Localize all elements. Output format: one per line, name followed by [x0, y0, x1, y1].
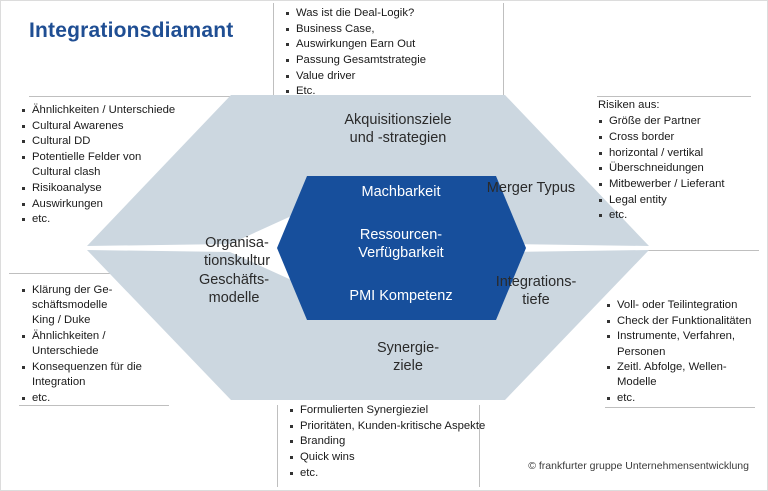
list-item: Auswirkungen Earn Out [285, 37, 499, 52]
list-item: Legal entity [598, 193, 766, 208]
divider-vertical-top-right [503, 3, 504, 96]
list-items: Ähnlichkeiten / Unterschiede Cultural Aw… [21, 103, 236, 228]
list-items: Klärung der Ge- schäftsmodelle King / Du… [21, 283, 173, 406]
list-lead: Risiken aus: [598, 98, 766, 113]
list-item: Was ist die Deal-Logik? [285, 6, 499, 21]
list-left-bottom: Klärung der Ge- schäftsmodelle King / Du… [21, 282, 173, 407]
list-left-top: Ähnlichkeiten / Unterschiede Cultural Aw… [21, 102, 236, 228]
list-item: Cross border [598, 130, 766, 145]
list-item: Cultural Awarenes [21, 119, 236, 134]
list-item: Formulierten Synergieziel [289, 403, 539, 418]
list-item: etc. [289, 466, 539, 481]
list-item: Ähnlichkeiten / Unterschiede [21, 103, 236, 118]
list-item: Prioritäten, Kunden-kritische Aspekte [289, 419, 539, 434]
list-item: Auswirkungen [21, 197, 236, 212]
list-item: Zeitl. Abfolge, Wellen- Modelle [606, 360, 766, 390]
list-item: Konsequenzen für die Integration [21, 360, 173, 390]
copyright-notice: © frankfurter gruppe Unternehmensentwick… [528, 460, 749, 472]
list-items: Formulierten Synergieziel Prioritäten, K… [289, 403, 539, 481]
divider-vertical-top-left [273, 3, 274, 96]
list-item: Business Case, [285, 22, 499, 37]
list-item: Risikoanalyse [21, 181, 236, 196]
list-item: etc. [598, 208, 766, 223]
list-top-center: Was ist die Deal-Logik? Business Case, A… [285, 5, 499, 100]
divider-right-bottom [605, 407, 755, 408]
list-items: Größe der Partner Cross border horizonta… [598, 114, 766, 223]
list-item: Größe der Partner [598, 114, 766, 129]
page-title: Integrationsdiamant [29, 19, 234, 43]
core-hexagon[interactable] [277, 176, 526, 320]
list-item: Passung Gesamtstrategie [285, 53, 499, 68]
divider-right-middle [647, 250, 759, 251]
diagram-canvas: Integrationsdiamant Organisa- tion [0, 0, 768, 491]
list-item: Branding [289, 434, 539, 449]
list-item: Mitbewerber / Lieferant [598, 177, 766, 192]
list-item: Quick wins [289, 450, 539, 465]
list-item: Cultural DD [21, 134, 236, 149]
list-item: Potentielle Felder von Cultural clash [21, 150, 236, 180]
list-item: horizontal / vertikal [598, 146, 766, 161]
list-item: etc. [606, 391, 766, 406]
list-item: Value driver [285, 69, 499, 84]
list-item: Voll- oder Teilintegration [606, 298, 766, 313]
list-item: Ähnlichkeiten / Unterschiede [21, 329, 173, 359]
list-item: Instrumente, Verfahren, Personen [606, 329, 766, 359]
list-item: Überschneidungen [598, 161, 766, 176]
list-bottom-center: Formulierten Synergieziel Prioritäten, K… [289, 402, 539, 481]
divider-vertical-bottom-left [277, 405, 278, 487]
list-item: Etc. [285, 84, 499, 99]
list-items: Was ist die Deal-Logik? Business Case, A… [285, 6, 499, 100]
list-item: Klärung der Ge- schäftsmodelle King / Du… [21, 283, 173, 329]
list-item: Check der Funktionalitäten [606, 314, 766, 329]
list-items: Voll- oder Teilintegration Check der Fun… [606, 298, 766, 406]
list-right-bottom: Voll- oder Teilintegration Check der Fun… [606, 297, 766, 407]
list-right-top: Risiken aus: Größe der Partner Cross bor… [598, 98, 766, 224]
list-item: etc. [21, 212, 236, 227]
list-item: etc. [21, 391, 173, 406]
